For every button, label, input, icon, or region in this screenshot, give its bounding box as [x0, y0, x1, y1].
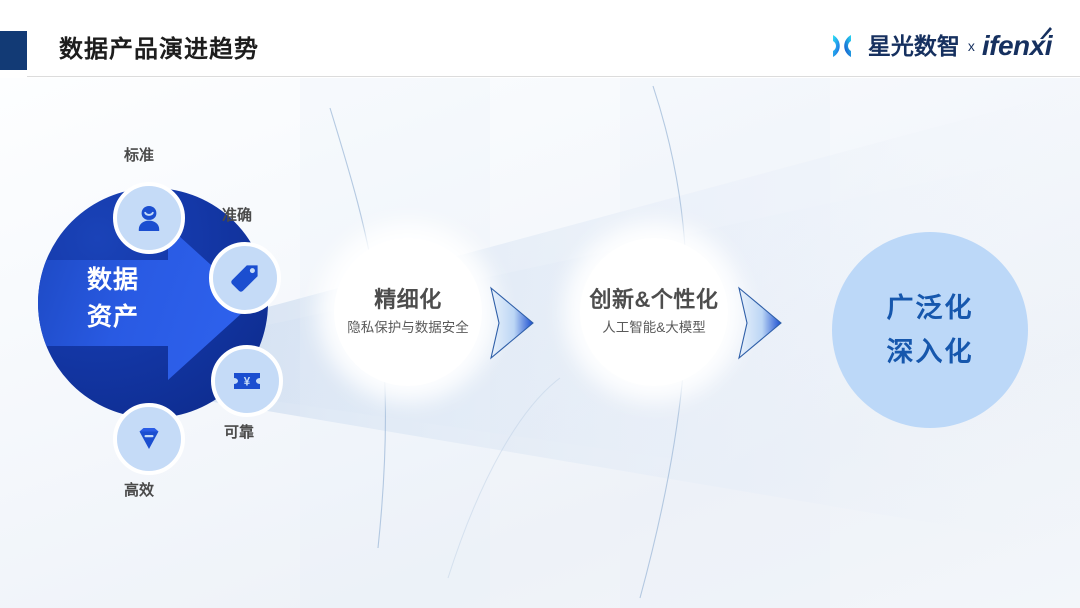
logo-english-wrap: ifenxi — [982, 31, 1052, 61]
stage-1-title: 精细化 — [374, 285, 442, 315]
logo-chinese-name: 星光数智 — [868, 32, 960, 60]
user-icon — [132, 201, 166, 235]
stage-2-title: 创新&个性化 — [590, 285, 719, 315]
stage-arrow-2-icon — [737, 286, 783, 360]
final-outcome-line2: 深入化 — [887, 330, 974, 374]
tag-icon — [228, 261, 262, 295]
stage-arrow-1-icon — [489, 286, 535, 360]
header-divider — [27, 76, 1080, 77]
stage-circle-1: 精细化 隐私保护与数据安全 — [334, 238, 482, 386]
slide-header: 数据产品演进趋势 星光数智 x — [0, 0, 1080, 78]
data-asset-label-line2: 资产 — [38, 299, 188, 336]
asset-attribute-standard-circle — [113, 182, 185, 254]
asset-attribute-reliable-circle: ¥ — [211, 345, 283, 417]
asset-attribute-efficient-caption: 高效 — [124, 481, 154, 501]
brand-logo: 星光数智 x ifenxi — [831, 28, 1052, 64]
final-outcome-circle: 广泛化 深入化 — [832, 232, 1028, 428]
final-outcome-line1: 广泛化 — [887, 286, 974, 330]
asset-attribute-accurate-circle — [209, 242, 281, 314]
xingguang-x-mark-icon — [831, 32, 863, 60]
stage-2-subtitle: 人工智能&大模型 — [602, 317, 706, 339]
asset-attribute-standard-caption: 标准 — [124, 146, 154, 166]
page-title: 数据产品演进趋势 — [59, 32, 259, 68]
slide-canvas: 数据产品演进趋势 星光数智 x — [0, 0, 1080, 608]
diamond-icon — [132, 422, 166, 456]
ticket-yen-icon: ¥ — [230, 364, 264, 398]
svg-text:¥: ¥ — [244, 377, 251, 389]
header-accent-block — [0, 31, 27, 70]
stage-circle-2: 创新&个性化 人工智能&大模型 — [580, 238, 728, 386]
logo-separator: x — [968, 32, 975, 60]
stage-1-subtitle: 隐私保护与数据安全 — [347, 317, 469, 339]
data-asset-label: 数据 资产 — [38, 262, 188, 336]
asset-attribute-efficient-circle — [113, 403, 185, 475]
asset-attribute-reliable-caption: 可靠 — [224, 423, 254, 443]
data-asset-label-line1: 数据 — [38, 262, 188, 299]
asset-attribute-accurate-caption: 准确 — [222, 206, 252, 226]
logo-flag-icon — [1039, 27, 1053, 40]
